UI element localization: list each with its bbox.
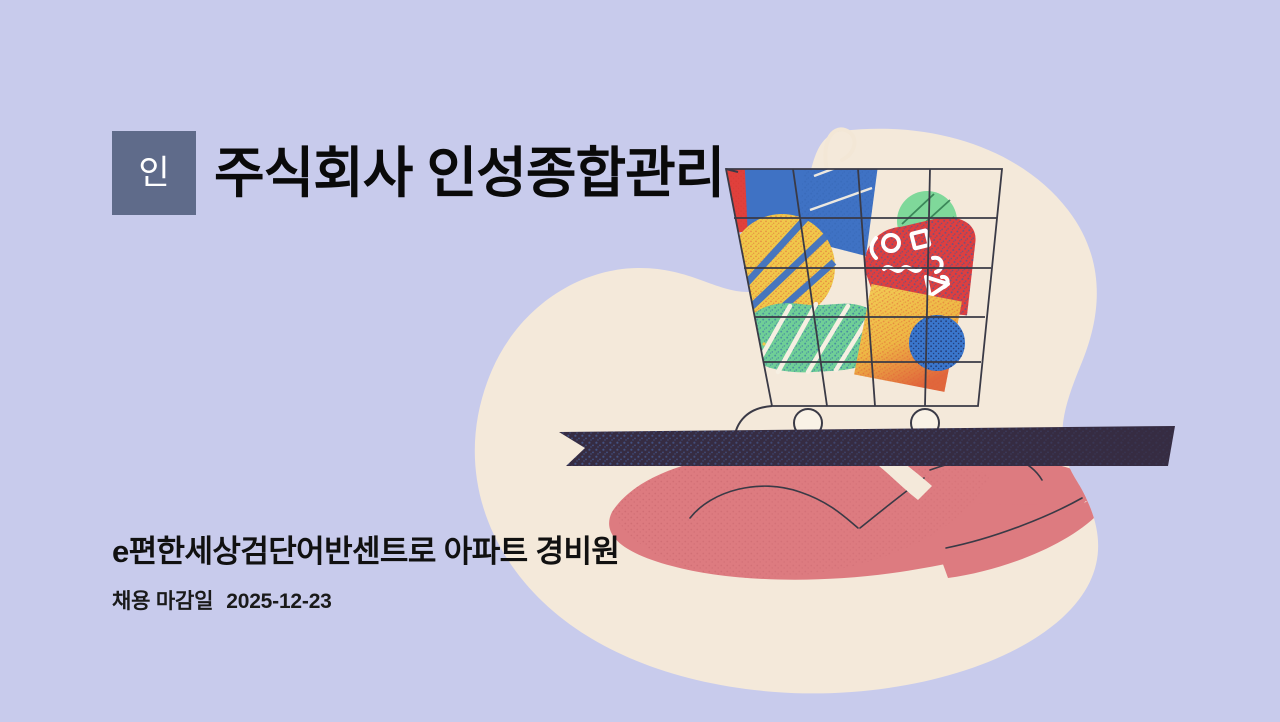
company-name: 주식회사 인성종합관리 bbox=[214, 146, 724, 201]
cart-contents bbox=[712, 136, 984, 392]
green-blue-blob-shape bbox=[744, 303, 883, 372]
orange-yellow-square-shape bbox=[854, 284, 962, 392]
job-posting-poster: 인 주식회사 인성종합관리 e편한세상검단어반센트로 아파트 경비원 채용 마감… bbox=[0, 0, 1280, 722]
red-doodle-tag-shape bbox=[861, 214, 984, 325]
yellow-striped-circle-shape bbox=[729, 214, 835, 320]
blue-dotted-circle-shape bbox=[909, 315, 965, 371]
cart-base bbox=[726, 169, 996, 452]
green-hatched-circle-shape bbox=[897, 191, 957, 251]
cart-frame bbox=[726, 169, 1002, 406]
cart-handle bbox=[825, 129, 854, 176]
brand-row: 인 주식회사 인성종합관리 bbox=[112, 131, 724, 215]
hand-illustration bbox=[609, 450, 1100, 580]
deadline-row: 채용 마감일2025-12-23 bbox=[112, 585, 332, 615]
cart-wheels bbox=[794, 409, 939, 437]
job-title: e편한세상검단어반센트로 아파트 경비원 bbox=[112, 526, 619, 571]
laptop-bar bbox=[559, 426, 1175, 466]
blue-speckle-square-shape bbox=[796, 136, 880, 256]
blue-rounded-square-shape bbox=[744, 142, 817, 240]
deadline-date: 2025-12-23 bbox=[226, 590, 331, 613]
deadline-label: 채용 마감일 bbox=[112, 590, 213, 613]
company-initial-badge: 인 bbox=[112, 131, 196, 215]
